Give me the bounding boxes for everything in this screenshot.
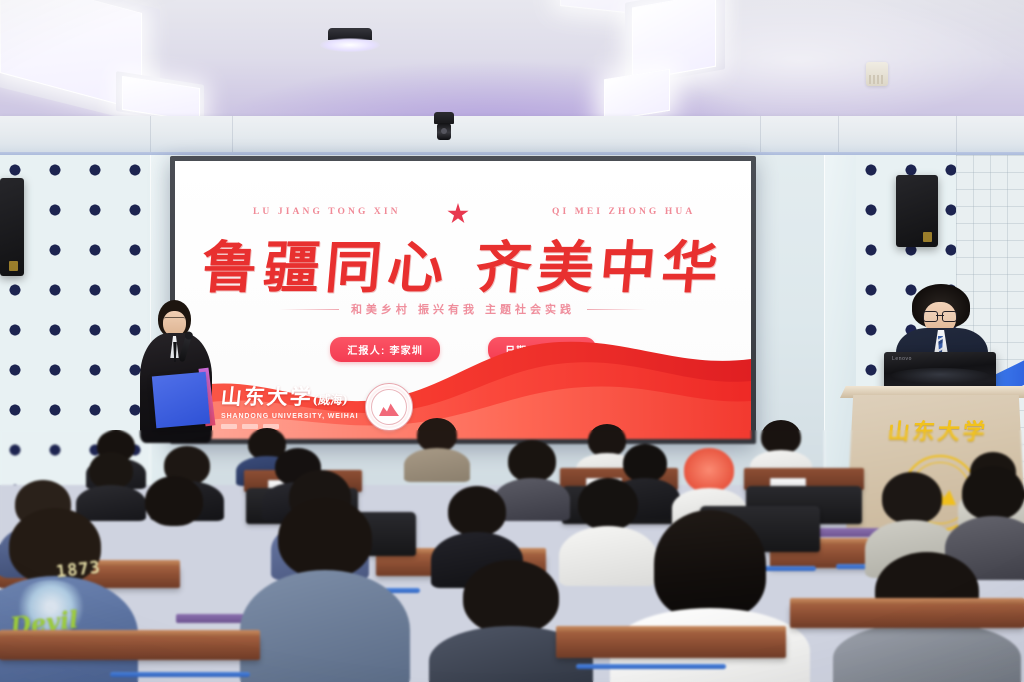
slide-logo-cn-main: 山东大学 [220, 384, 315, 409]
camera-lens-dot [441, 128, 447, 134]
desk [0, 636, 260, 660]
desk [556, 632, 786, 658]
slide-title-left: 鲁疆同心 [199, 235, 453, 301]
podium-speaker-glasses-icon [923, 311, 957, 321]
presenter-person [140, 300, 220, 450]
monitor-screen-sheen [890, 368, 990, 384]
ceiling-camera-icon [430, 112, 458, 142]
tee-number: 1873 [55, 558, 102, 583]
chair-rim [110, 672, 250, 677]
audience-member [404, 418, 470, 482]
beam-seam [232, 116, 233, 156]
slide-title-right: 齐美中华 [473, 235, 727, 301]
subtitle-rule-right [587, 309, 647, 310]
pendant-light [320, 28, 380, 56]
wall-speaker-right-icon [896, 175, 938, 247]
slide-subtitle: 和美乡村 振兴有我 主题社会实践 [351, 301, 575, 317]
beam-seam [956, 116, 957, 156]
audience-member [128, 476, 220, 576]
beam-seam [150, 116, 151, 156]
chair-rim [576, 664, 726, 669]
projection-screen: LU JIANG TONG XIN QI MEI ZHONG HUA 鲁疆同心齐… [170, 156, 756, 444]
audience-member [436, 560, 586, 682]
slide-main-title: 鲁疆同心齐美中华 [175, 223, 751, 304]
slide-content: LU JIANG TONG XIN QI MEI ZHONG HUA 鲁疆同心齐… [175, 161, 751, 439]
slide-pinyin-left: LU JIANG TONG XIN [253, 207, 401, 217]
ceiling-light-panel-5 [604, 69, 670, 121]
ceiling-beam [0, 116, 1024, 156]
pendant-glow [320, 38, 380, 52]
slide-logo-cn-suffix: (威海) [312, 393, 349, 407]
wall-speaker-left-icon [0, 178, 24, 276]
slide-pinyin-right: QI MEI ZHONG HUA [552, 207, 695, 217]
beam-seam [838, 116, 839, 156]
monitor-brand-label: Lenovo [892, 356, 912, 362]
desk [790, 604, 1024, 628]
slide-subtitle-row: 和美乡村 振兴有我 主题社会实践 [175, 301, 751, 317]
beam-seam [760, 116, 761, 156]
red-star-icon [447, 203, 469, 225]
lecture-hall-photo: LU JIANG TONG XIN QI MEI ZHONG HUA 鲁疆同心齐… [0, 0, 1024, 682]
subtitle-rule-left [279, 309, 339, 310]
podium-label: 山东大学 [880, 414, 995, 446]
audience-member [250, 498, 400, 682]
presenter-glasses-icon [164, 317, 185, 324]
blue-folder [152, 372, 210, 429]
emblem-ring [371, 389, 407, 425]
smoke-detector-icon [866, 62, 888, 86]
